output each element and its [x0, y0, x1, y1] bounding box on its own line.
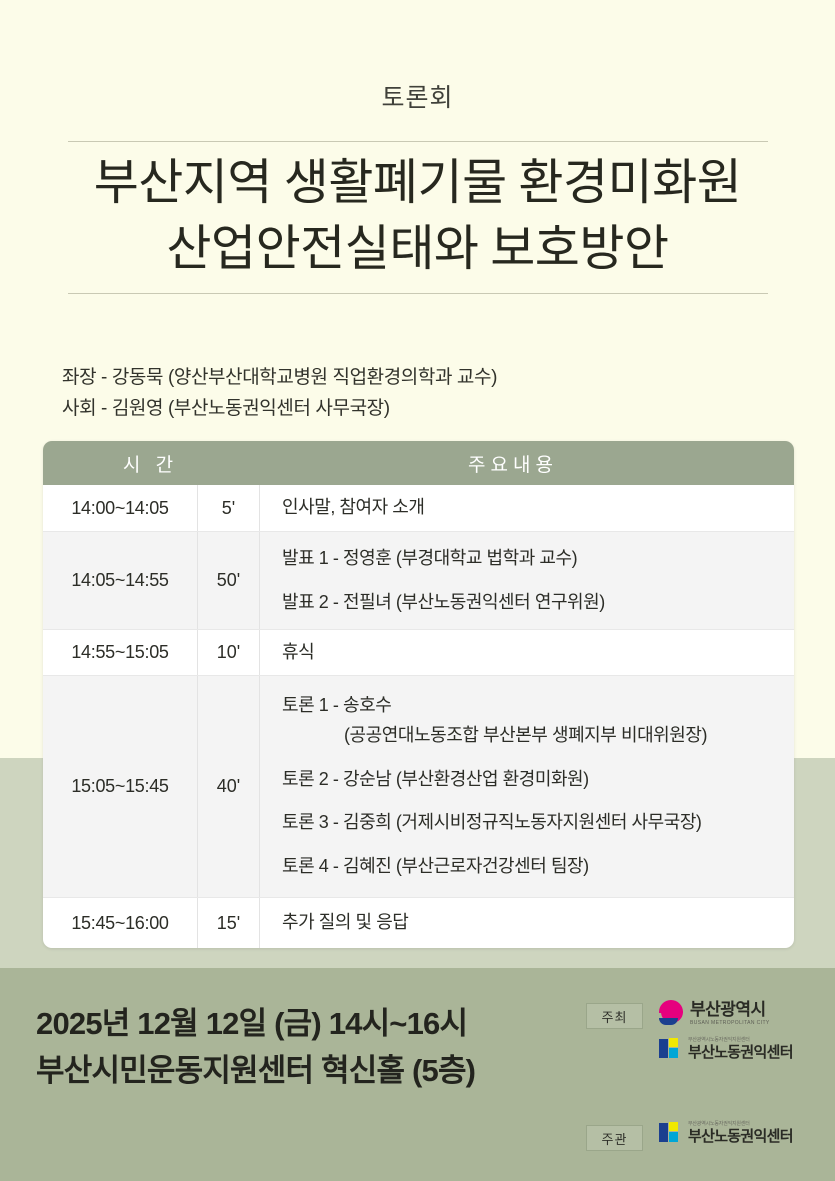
chair-line: 좌장 - 강동묵 (양산부산대학교병원 직업환경의학과 교수) [62, 362, 497, 393]
organizer-row: 주관 부산광역시노동자권익지원센터 부산노동권익센터 [586, 1122, 816, 1151]
table-body: 14:00~14:055'인사말, 참여자 소개14:05~14:5550'발표… [43, 485, 794, 948]
busan-city-logo: 부산광역시 BUSAN METROPOLITAN CITY [659, 1000, 816, 1026]
page-title-line2: 산업안전실태와 보호방안 [0, 216, 835, 282]
row-content-line: 휴식 [282, 639, 780, 667]
busan-city-name-en: BUSAN METROPOLITAN CITY [690, 1021, 770, 1026]
row-time: 14:05~14:55 [43, 532, 198, 629]
busan-city-emblem-icon [659, 1000, 685, 1026]
organizations-block: 주최 부산광역시 BUSAN METROPOLITAN CITY [586, 1000, 816, 1151]
labor-center-logo-host: 부산광역시노동자권익지원센터 부산노동권익센터 [659, 1038, 816, 1060]
row-duration: 15' [198, 898, 260, 948]
row-content-line: 토론 3 - 김중희 (거제시비정규직노동자지원센터 사무국장) [282, 809, 780, 837]
row-content-line: 토론 2 - 강순남 (부산환경산업 환경미화원) [282, 766, 780, 794]
row-duration: 10' [198, 630, 260, 675]
table-row: 14:05~14:5550'발표 1 - 정영훈 (부경대학교 법학과 교수)발… [43, 531, 794, 629]
row-content-line: 토론 4 - 김혜진 (부산근로자건강센터 팀장) [282, 853, 780, 881]
poster-kicker: 토론회 [0, 78, 835, 114]
page-title-line1: 부산지역 생활폐기물 환경미화원 [94, 155, 742, 210]
labor-center-logo-text: 부산광역시노동자권익지원센터 부산노동권익센터 [688, 1122, 793, 1144]
host-logos: 부산광역시 BUSAN METROPOLITAN CITY 부산광역시노동자권익… [659, 1000, 816, 1060]
moderator-line: 사회 - 김원영 (부산노동권익센터 사무국장) [62, 393, 497, 424]
row-content: 토론 1 - 송호수(공공연대노동조합 부산본부 생폐지부 비대위원장)토론 2… [260, 676, 794, 897]
labor-center-name: 부산노동권익센터 [688, 1129, 793, 1144]
labor-center-logo-organizer: 부산광역시노동자권익지원센터 부산노동권익센터 [659, 1122, 816, 1144]
poster-root: 토론회 부산지역 생활폐기물 환경미화원 산업안전실태와 보호방안 좌장 - 강… [0, 0, 835, 1181]
host-row: 주최 부산광역시 BUSAN METROPOLITAN CITY [586, 1000, 816, 1060]
table-header-content: 주요내용 [262, 450, 794, 477]
row-content-line: (공공연대노동조합 부산본부 생폐지부 비대위원장) [282, 722, 780, 750]
people-block: 좌장 - 강동묵 (양산부산대학교병원 직업환경의학과 교수) 사회 - 김원영… [62, 362, 497, 425]
labor-center-emblem-icon [659, 1122, 683, 1144]
busan-city-name-ko: 부산광역시 [690, 1001, 770, 1018]
busan-city-logo-text: 부산광역시 BUSAN METROPOLITAN CITY [690, 1001, 770, 1026]
row-content-line: 추가 질의 및 응답 [282, 909, 780, 937]
event-venue: 부산시민운동지원센터 혁신홀 (5층) [36, 1047, 475, 1094]
table-row: 15:05~15:4540'토론 1 - 송호수(공공연대노동조합 부산본부 생… [43, 675, 794, 897]
divider-bottom [68, 293, 768, 294]
row-content: 휴식 [260, 630, 794, 675]
row-duration: 5' [198, 485, 260, 531]
row-content-line: 인사말, 참여자 소개 [282, 494, 780, 522]
event-info: 2025년 12월 12일 (금) 14시~16시 부산시민운동지원센터 혁신홀… [36, 1000, 475, 1094]
labor-center-subtitle: 부산광역시노동자권익지원센터 [688, 1038, 793, 1043]
program-table: 시 간 주요내용 14:00~14:055'인사말, 참여자 소개14:05~1… [43, 441, 794, 948]
row-time: 15:45~16:00 [43, 898, 198, 948]
row-content-line: 발표 2 - 전필녀 (부산노동권익센터 연구위원) [282, 589, 780, 617]
row-duration: 50' [198, 532, 260, 629]
organizer-logos: 부산광역시노동자권익지원센터 부산노동권익센터 [659, 1122, 816, 1144]
row-content: 추가 질의 및 응답 [260, 898, 794, 948]
row-time: 14:00~14:05 [43, 485, 198, 531]
table-header-row: 시 간 주요내용 [43, 441, 794, 485]
table-header-time: 시 간 [43, 450, 262, 477]
table-row: 15:45~16:0015'추가 질의 및 응답 [43, 897, 794, 948]
row-duration: 40' [198, 676, 260, 897]
row-content-line: 토론 1 - 송호수 [282, 692, 780, 720]
row-time: 14:55~15:05 [43, 630, 198, 675]
labor-center-name: 부산노동권익센터 [688, 1045, 793, 1060]
event-datetime: 2025년 12월 12일 (금) 14시~16시 [36, 1000, 475, 1047]
table-row: 14:55~15:0510'휴식 [43, 629, 794, 675]
row-content-line: 발표 1 - 정영훈 (부경대학교 법학과 교수) [282, 545, 780, 573]
labor-center-logo-text: 부산광역시노동자권익지원센터 부산노동권익센터 [688, 1038, 793, 1060]
row-time: 15:05~15:45 [43, 676, 198, 897]
page-title: 부산지역 생활폐기물 환경미화원 산업안전실태와 보호방안 [0, 150, 835, 281]
labor-center-subtitle: 부산광역시노동자권익지원센터 [688, 1122, 793, 1127]
divider-top [68, 141, 768, 142]
row-content: 인사말, 참여자 소개 [260, 485, 794, 531]
host-tag: 주최 [586, 1003, 643, 1029]
organizer-tag: 주관 [586, 1125, 643, 1151]
labor-center-emblem-icon [659, 1038, 683, 1060]
table-row: 14:00~14:055'인사말, 참여자 소개 [43, 485, 794, 531]
row-content: 발표 1 - 정영훈 (부경대학교 법학과 교수)발표 2 - 전필녀 (부산노… [260, 532, 794, 629]
